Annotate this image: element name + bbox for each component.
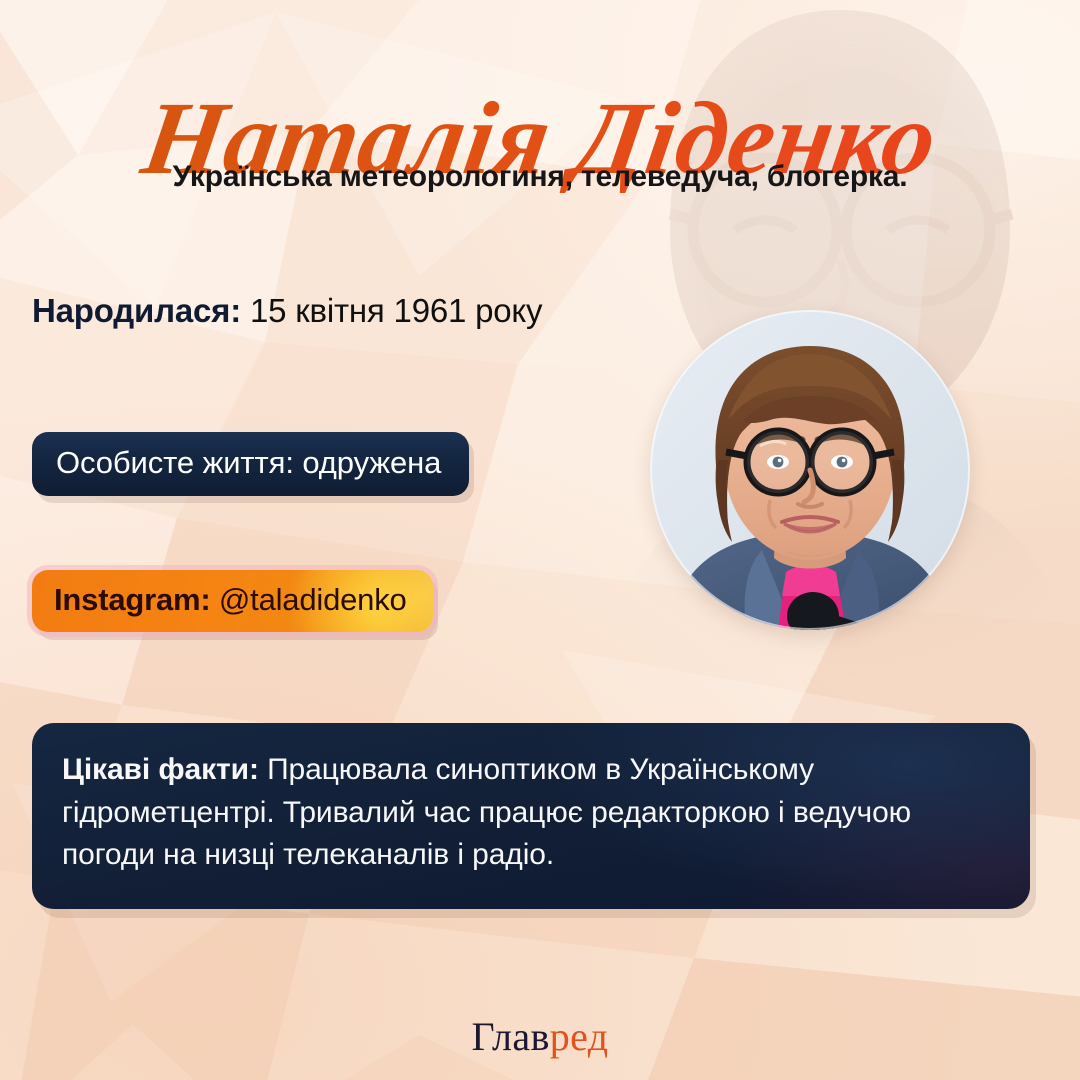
infographic-card: Наталія Діденко Українська метеорологиня… xyxy=(0,0,1080,1080)
instagram-badge[interactable]: Instagram: @taladidenko xyxy=(32,570,433,632)
birth-date-label: Народилася: xyxy=(32,292,241,329)
interesting-facts-label: Цікаві факти: xyxy=(62,753,259,786)
logo-part-red: ред xyxy=(550,1014,609,1059)
birth-date-value: 15 квітня 1961 року xyxy=(241,292,542,329)
page-subtitle: Українська метеорологиня, телеведуча, бл… xyxy=(0,160,1080,194)
personal-life-badge: Особисте життя: одружена xyxy=(32,432,469,496)
portrait-photo xyxy=(650,310,970,630)
interesting-facts-box: Цікаві факти: Працювала синоптиком в Укр… xyxy=(32,723,1030,909)
personal-life-text: Особисте життя: одружена xyxy=(56,445,441,480)
logo-part-glav: Глав xyxy=(471,1014,549,1059)
birth-date-line: Народилася: 15 квітня 1961 року xyxy=(32,292,542,330)
instagram-label: Instagram: xyxy=(54,582,210,617)
glavred-logo[interactable]: Главред xyxy=(0,1013,1080,1060)
instagram-handle[interactable]: @taladidenko xyxy=(210,582,406,617)
